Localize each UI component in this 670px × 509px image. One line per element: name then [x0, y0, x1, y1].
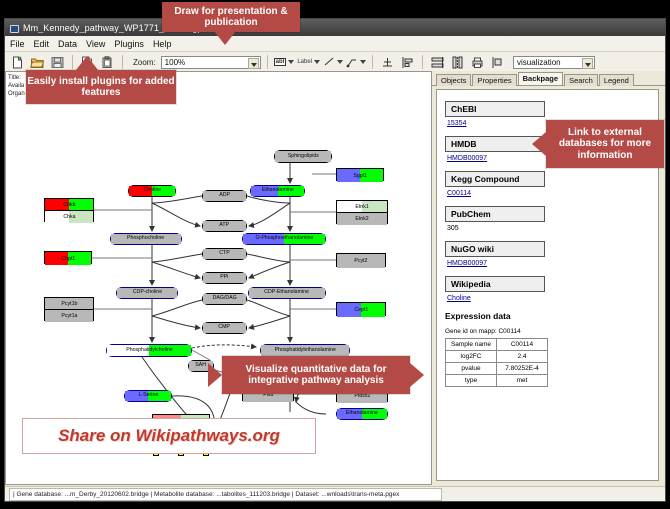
db-header-pubchem: PubChem: [445, 206, 545, 222]
gene-row: Chka: [45, 211, 93, 223]
gene-row: Pcyt2: [337, 254, 385, 268]
visualization-combo[interactable]: visualization: [513, 56, 595, 69]
gene-row: Etnk2: [337, 213, 387, 225]
chevron-down-icon[interactable]: [337, 60, 343, 64]
node-label: ADP: [219, 193, 230, 198]
node-label: Phosphatidylcholine: [126, 348, 172, 353]
gene-label: Etnk2: [355, 216, 368, 222]
db-value-kegg-compound[interactable]: C00114: [447, 190, 650, 197]
callout-plugins: Easily install plugins for added feature…: [26, 70, 176, 104]
menu-view[interactable]: View: [86, 39, 105, 49]
tab-search[interactable]: Search: [564, 74, 598, 86]
expr-value: C00114: [497, 339, 548, 351]
toolbar-separator: [422, 55, 423, 69]
callout-links-arrow-icon: [532, 132, 546, 156]
status-bar: | Gene database: ...m_Derby_20120602.bri…: [5, 486, 665, 501]
paste-icon[interactable]: [99, 54, 116, 71]
table-row: typemet: [446, 375, 548, 387]
node-label: Choline: [143, 188, 161, 193]
gene-label: Sgpl1: [353, 173, 366, 179]
callout-draw: Draw for presentation & publication: [162, 2, 300, 32]
menu-plugins[interactable]: Plugins: [114, 39, 144, 49]
db-header-nugo-wiki: NuGO wiki: [445, 241, 545, 257]
db-value-wikipedia[interactable]: Choline: [447, 295, 650, 302]
callout-draw-arrow-icon: [214, 31, 236, 45]
node-label: DAG/DAG: [212, 296, 236, 301]
canvas-meta: Title: Availa Organ: [8, 74, 25, 98]
metabolite-node-l-serine-left[interactable]: L-Serine: [124, 390, 172, 402]
expr-key: Sample name: [446, 339, 497, 351]
gene-row: Pcyt1a: [45, 310, 93, 322]
menu-bar: File Edit Data View Plugins Help: [5, 36, 665, 52]
chevron-down-icon[interactable]: [314, 60, 320, 64]
metabolite-node-atp[interactable]: ATP: [202, 220, 247, 232]
gene-label: Chpt1: [61, 256, 75, 262]
print-icon[interactable]: [469, 54, 486, 71]
gene-label: Pcyt2: [354, 258, 367, 264]
db-value-pubchem: 305: [447, 225, 650, 232]
menu-data[interactable]: Data: [58, 39, 77, 49]
node-label: Sphingolipids: [287, 154, 318, 159]
node-label: Ethanolamine: [262, 188, 294, 193]
table-row: Sample nameC00114: [446, 339, 548, 351]
side-panel-tabs: ObjectsPropertiesBackpageSearchLegend: [432, 71, 665, 86]
callout-visualize-arrow-right-icon: [410, 363, 424, 387]
title-bar: Mm_Kennedy_pathway_WP1771_45176.gpml: [5, 19, 665, 36]
toolbar-separator: [267, 55, 268, 69]
share-banner: Share on Wikipathways.org: [22, 418, 316, 454]
node-label: Phosphocholine: [127, 236, 164, 241]
gene-row: Chpt1: [45, 252, 91, 265]
meta-availability: Availa: [8, 82, 25, 90]
table-row: pvalue7.80252E-4: [446, 363, 548, 375]
chevron-down-icon[interactable]: [360, 60, 366, 64]
zoom-value: 100%: [165, 58, 185, 67]
visualization-value: visualization: [517, 58, 561, 67]
distribute-horizontal-icon[interactable]: [449, 54, 466, 71]
label-tool[interactable]: Label: [297, 59, 320, 65]
gene-label: Chkb: [63, 202, 75, 208]
gene-label: Ptdss2: [354, 393, 370, 399]
node-label: SAH: [196, 363, 207, 368]
meta-title: Title:: [8, 74, 25, 82]
tab-properties[interactable]: Properties: [472, 74, 516, 86]
toolbar-separator: [372, 55, 373, 69]
metabolite-node-dagdag[interactable]: DAG/DAG: [202, 293, 247, 305]
align-left-icon[interactable]: [399, 54, 416, 71]
gene-node-chpt1[interactable]: Chpt1: [44, 251, 92, 264]
node-label: L-Serine: [138, 393, 158, 398]
gene-label: Pcyt1a: [61, 313, 77, 319]
node-label: CMP: [219, 325, 231, 330]
metabolite-node-cdp-ethanolamine[interactable]: CDP-Ethanolamine: [248, 287, 326, 299]
tab-backpage[interactable]: Backpage: [518, 72, 563, 85]
expr-value: met: [497, 375, 548, 387]
metabolite-node-phosphocholine[interactable]: Phosphocholine: [110, 233, 182, 245]
gene-row: Sgpl1: [337, 169, 383, 182]
save-icon[interactable]: [49, 54, 66, 71]
gene-row: Cept1: [337, 303, 385, 317]
new-icon[interactable]: [9, 54, 26, 71]
tab-legend[interactable]: Legend: [599, 74, 634, 86]
chevron-down-icon[interactable]: [582, 58, 593, 69]
node-label: Phosphatidylethanolamine: [274, 348, 335, 353]
metabolite-node-cmp[interactable]: CMP: [202, 322, 247, 334]
node-label: CDP-Ethanolamine: [265, 290, 310, 295]
open-icon[interactable]: [29, 54, 46, 71]
app-icon: [9, 23, 19, 33]
text-tool[interactable]: abl: [274, 58, 295, 66]
db-header-kegg-compound: Kegg Compound: [445, 171, 545, 187]
expr-key: pvalue: [446, 363, 497, 375]
label-tool-label: Label: [297, 59, 312, 65]
gene-label: Chka: [63, 214, 75, 220]
expr-value: 2.4: [497, 351, 548, 363]
table-row: log2FC2.4: [446, 351, 548, 363]
interaction-icon: [346, 56, 358, 68]
menu-file[interactable]: File: [10, 39, 25, 49]
gene-label: Cept1: [354, 307, 368, 313]
chevron-down-icon[interactable]: [288, 60, 294, 64]
gene-label: Etnk1: [355, 204, 368, 210]
node-label: O-Phosphoethanolamine: [255, 236, 313, 241]
gene-node-sgpl1[interactable]: Sgpl1: [336, 168, 384, 181]
db-header-wikipedia: Wikipedia: [445, 276, 545, 292]
distribute-vertical-icon[interactable]: [429, 54, 446, 71]
db-value-nugo-wiki[interactable]: HMDB00097: [447, 260, 650, 267]
metabolite-node-ethanolamine-top[interactable]: Ethanolamine: [250, 185, 305, 197]
expr-key: log2FC: [446, 351, 497, 363]
metabolite-node-adp[interactable]: ADP: [202, 190, 247, 202]
gene-id-line: Gene id on mapp: C00114: [445, 328, 650, 335]
db-header-chebi: ChEBI: [445, 101, 545, 117]
node-label: CDP-choline: [132, 290, 161, 295]
chevron-down-icon[interactable]: [248, 58, 259, 69]
gene-label: Pcyt1b: [61, 301, 77, 307]
text-tool-icon: abl: [274, 58, 287, 66]
line-icon: [323, 56, 335, 68]
callout-visualize-arrow-icon: [208, 363, 222, 387]
gene-node-pcyt1[interactable]: Pcyt1bPcyt1a: [44, 297, 94, 321]
callout-plugins-arrow-icon: [76, 56, 98, 70]
node-label: ATP: [220, 223, 230, 228]
expr-value: 7.80252E-4: [497, 363, 548, 375]
layout-icon[interactable]: [489, 54, 506, 71]
metabolite-node-phosphatidylcholine[interactable]: Phosphatidylcholine: [106, 344, 192, 357]
line-tool[interactable]: [323, 56, 343, 68]
gene-row: Etnk1: [337, 201, 387, 213]
gene-node-chk[interactable]: ChkbChka: [44, 198, 94, 222]
metabolite-node-ppi[interactable]: PPi: [202, 272, 247, 284]
metabolite-node-choline-top[interactable]: Choline: [128, 185, 176, 197]
zoom-label: Zoom:: [133, 58, 156, 67]
meta-organism: Organ: [8, 90, 25, 98]
menu-edit[interactable]: Edit: [34, 39, 50, 49]
node-label: CTP: [219, 251, 229, 256]
interaction-tool[interactable]: [346, 56, 366, 68]
metabolite-node-ctp[interactable]: CTP: [202, 248, 247, 260]
zoom-combo[interactable]: 100%: [161, 56, 261, 69]
toolbar-separator: [72, 55, 73, 69]
callout-links: Link to external databases for more info…: [546, 120, 664, 168]
callout-visualize: Visualize quantitative data for integrat…: [222, 356, 410, 394]
anchor-icon[interactable]: [379, 54, 396, 71]
expr-key: type: [446, 375, 497, 387]
screenshot-root: Mm_Kennedy_pathway_WP1771_45176.gpml Fil…: [0, 0, 670, 509]
metabolite-node-sphingolipids[interactable]: Sphingolipids: [274, 150, 332, 163]
db-header-hmdb: HMDB: [445, 136, 545, 152]
share-banner-text: Share on Wikipathways.org: [58, 426, 280, 446]
expression-data-heading: Expression data: [445, 311, 650, 321]
gene-node-etnk[interactable]: Etnk1Etnk2: [336, 200, 388, 224]
toolbar-separator: [122, 55, 123, 69]
metabolite-node-cdp-choline[interactable]: CDP-choline: [116, 287, 178, 299]
status-text: | Gene database: ...m_Derby_20120602.bri…: [9, 488, 442, 501]
tab-objects[interactable]: Objects: [436, 74, 471, 86]
expression-table: Sample nameC00114log2FC2.4pvalue7.80252E…: [445, 338, 548, 387]
node-label: Ethanolamine: [346, 411, 378, 416]
node-label: PPi: [220, 275, 228, 280]
gene-row: Chkb: [45, 199, 93, 211]
gene-node-cept1[interactable]: Cept1: [336, 302, 386, 316]
metabolite-node-ethanolamine-bottom[interactable]: Ethanolamine: [336, 408, 388, 420]
menu-help[interactable]: Help: [153, 39, 172, 49]
gene-row: Pcyt1b: [45, 298, 93, 310]
gene-node-pcyt2[interactable]: Pcyt2: [336, 253, 386, 267]
metabolite-node-o-phosphoethanolamine[interactable]: O-Phosphoethanolamine: [242, 233, 326, 245]
